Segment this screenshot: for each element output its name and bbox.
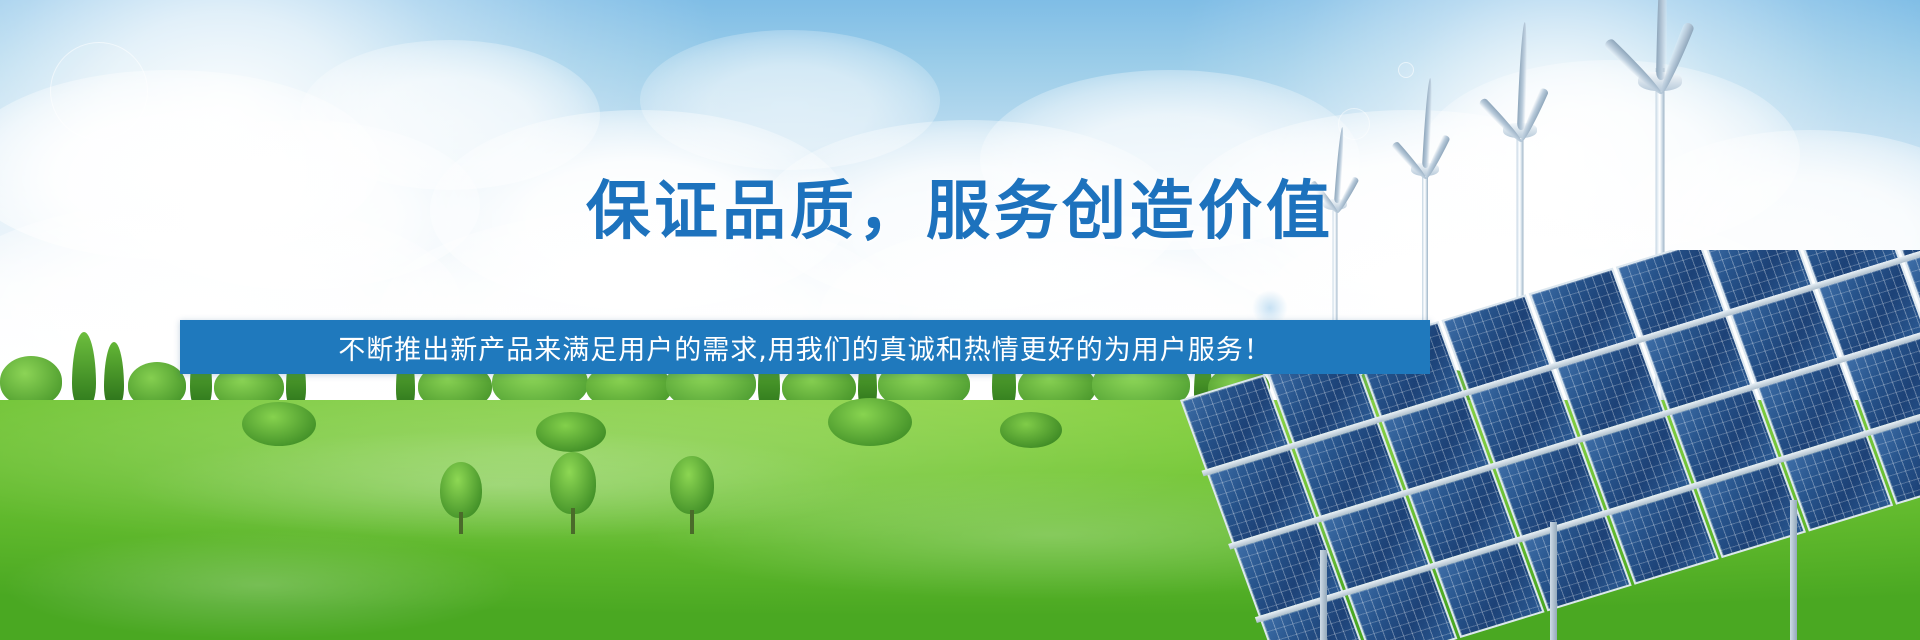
bush-icon xyxy=(828,398,912,446)
bush-icon xyxy=(536,412,606,452)
subtitle-text: 不断推出新产品来满足用户的需求,用我们的真诚和热情更好的为用户服务！ xyxy=(338,328,1272,367)
page-title: 保证品质，服务创造价值 xyxy=(0,160,1920,252)
hero-banner: 保证品质，服务创造价值 不断推出新产品来满足用户的需求,用我们的真诚和热情更好的… xyxy=(0,0,1920,640)
sapling-icon xyxy=(670,456,714,514)
sapling-icon xyxy=(440,462,482,518)
sapling-icon xyxy=(550,452,596,514)
subtitle-banner: 不断推出新产品来满足用户的需求,用我们的真诚和热情更好的为用户服务！ xyxy=(180,320,1430,374)
bush-icon xyxy=(242,402,316,446)
bush-icon xyxy=(1000,412,1062,448)
sapling-trunk xyxy=(571,508,575,534)
sapling-trunk xyxy=(459,512,463,534)
sapling-trunk xyxy=(690,510,694,534)
